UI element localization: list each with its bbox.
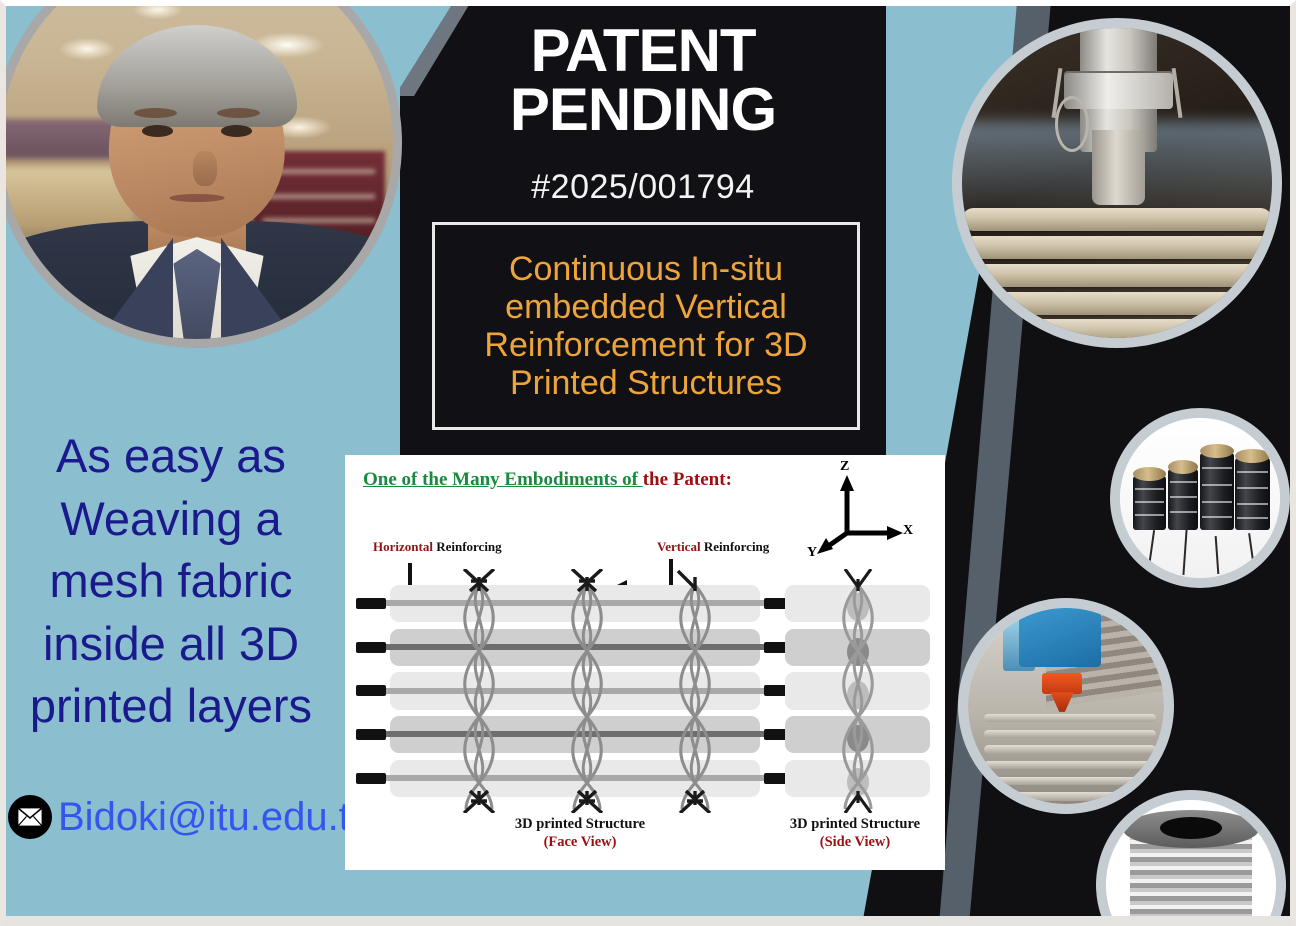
application-number: #2025/001794 [400,168,886,207]
poster-canvas: PATENT PENDING #2025/001794 Continuous I… [0,0,1296,926]
concrete-nozzle-photo [952,18,1282,348]
diagram-heading: One of the Many Embodiments of the Paten… [363,469,732,491]
diagram-heading-green: One of the Many Embodiments of [363,469,643,490]
side-view-structure [785,585,930,797]
axis-indicator: Z X Y [807,463,917,558]
vertical-braid-column [566,569,608,813]
diagram-heading-red: the Patent: [643,469,732,490]
face-view-caption: 3D printed Structure (Face View) [455,815,705,851]
envelope-icon [8,795,52,839]
contact-email[interactable]: Bidoki@itu.edu.tr [8,795,363,839]
title-line-2: PENDING [400,81,886,140]
portrait-photo [0,0,402,348]
axis-label-z: Z [840,459,849,475]
embodiment-diagram: One of the Many Embodiments of the Paten… [345,455,945,870]
subtitle-text: Continuous In-situ embedded Vertical Rei… [435,250,857,402]
subtitle-box: Continuous In-situ embedded Vertical Rei… [432,222,860,430]
vertical-braid-column [837,569,879,813]
carbon-fiber-spools-photo [1110,408,1290,588]
face-view-structure [390,585,760,797]
vertical-braid-column [674,569,716,813]
label-vertical-reinforcing: Vertical Reinforcing [657,539,769,555]
tagline-text: As easy as Weaving a mesh fabric inside … [6,425,336,738]
email-address: Bidoki@itu.edu.tr [58,797,363,837]
slide-bottom-border [0,916,1296,926]
label-horizontal-reinforcing: Horizontal Reinforcing [373,539,502,555]
gantry-printer-photo [958,598,1174,814]
axis-label-x: X [903,523,913,539]
portrait-image [1,0,393,339]
steel-wire-spool-photo [1096,790,1286,926]
page-title: PATENT PENDING [400,22,886,140]
title-line-1: PATENT [400,22,886,81]
side-view-caption: 3D printed Structure (Side View) [745,815,965,851]
vertical-braid-column [458,569,500,813]
axis-label-y: Y [807,545,817,561]
